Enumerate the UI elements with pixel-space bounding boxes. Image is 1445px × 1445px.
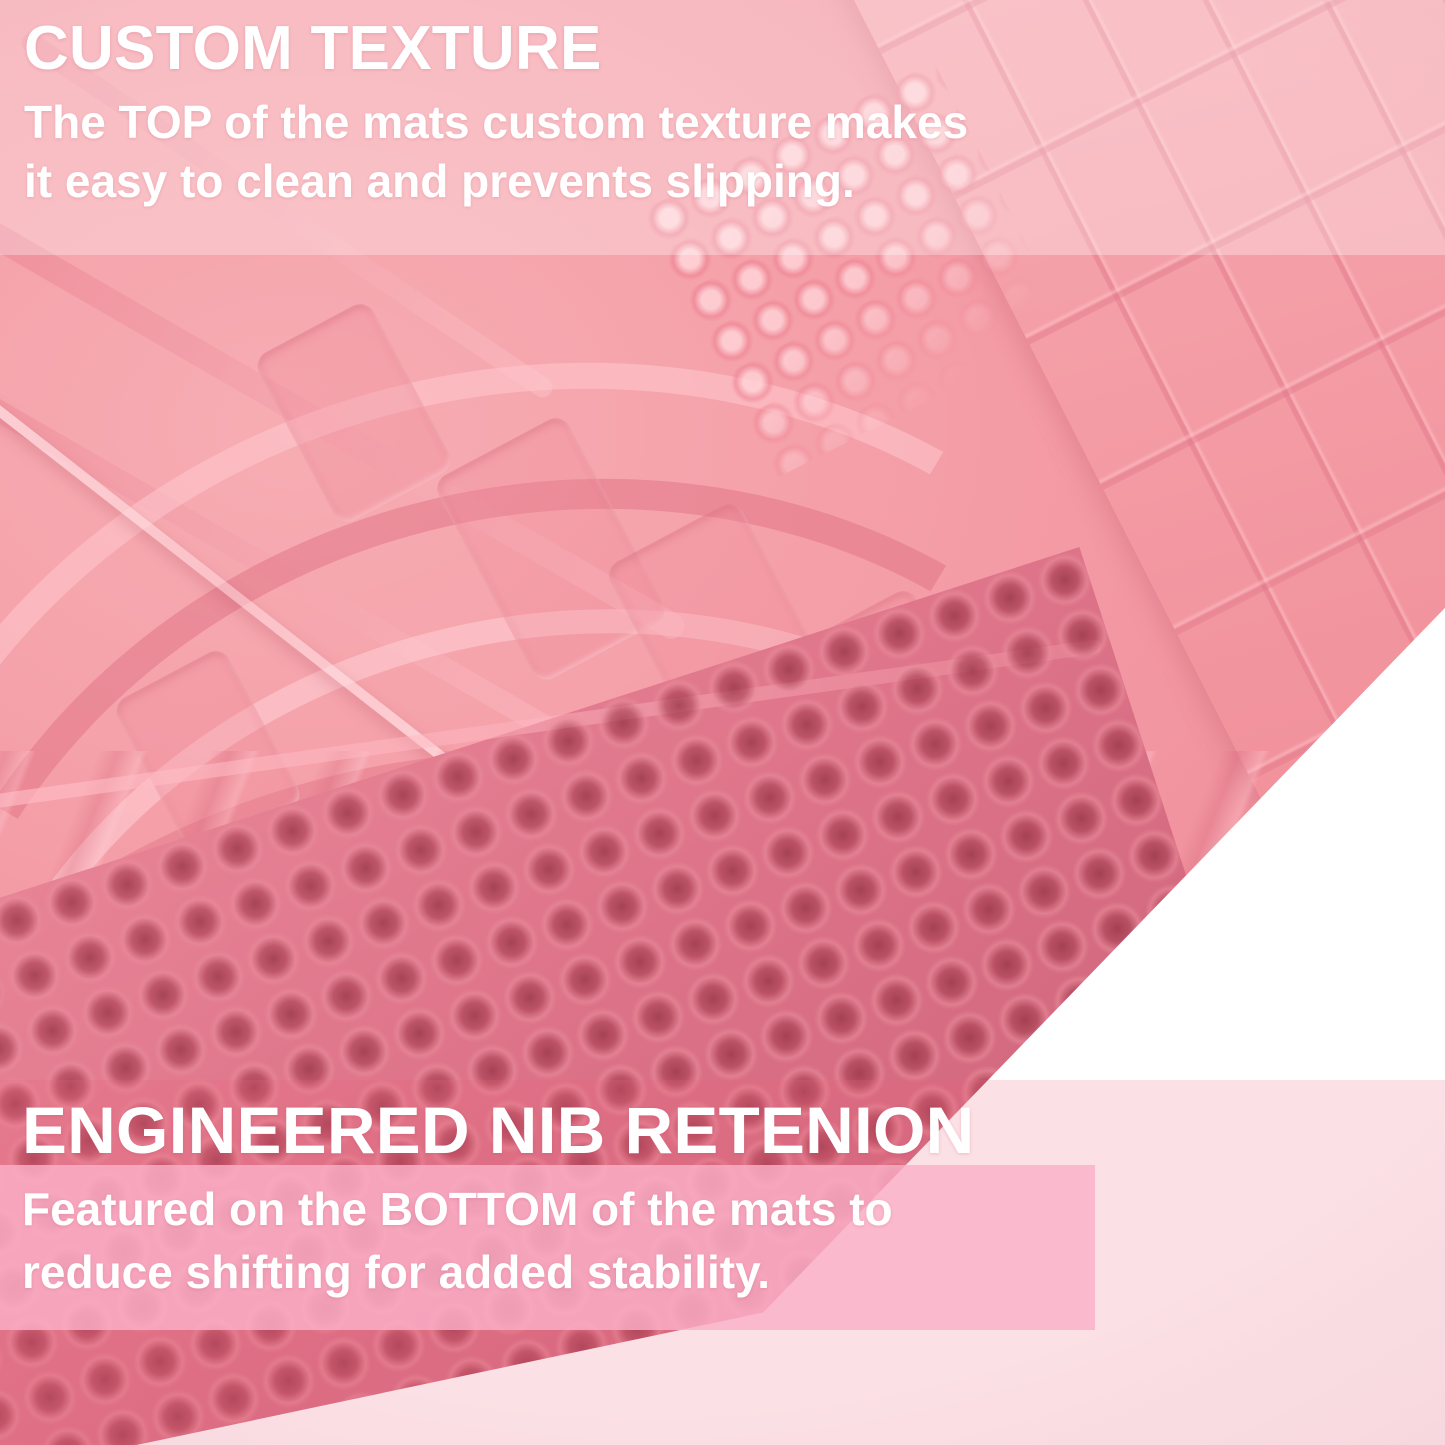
callout-custom-texture: CUSTOM TEXTURE The TOP of the mats custo… xyxy=(24,18,968,206)
product-feature-image: CUSTOM TEXTURE The TOP of the mats custo… xyxy=(0,0,1445,1445)
callout-body-line: reduce shifting for added stability. xyxy=(22,1248,956,1297)
callout-body-line: The TOP of the mats custom texture makes xyxy=(24,98,968,147)
callout-engineered-nib-retenion: ENGINEERED NIB RETENION Featured on the … xyxy=(22,1097,956,1297)
callout-body-line: it easy to clean and prevents slipping. xyxy=(24,157,968,206)
callout-body-line: Featured on the BOTTOM of the mats to xyxy=(22,1185,956,1234)
callout-headline: CUSTOM TEXTURE xyxy=(24,18,968,80)
callout-headline: ENGINEERED NIB RETENION xyxy=(22,1097,975,1163)
